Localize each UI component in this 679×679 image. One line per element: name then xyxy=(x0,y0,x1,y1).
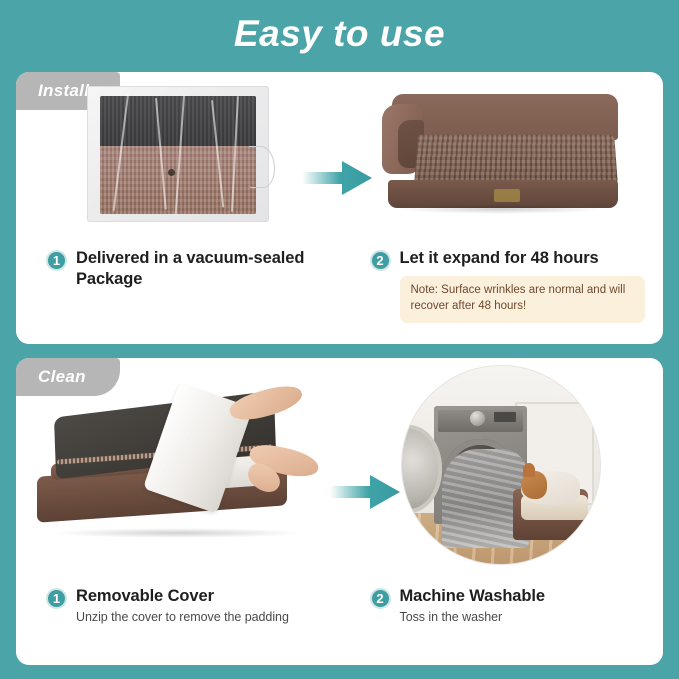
install-step-1-caption: 1 Delivered in a vacuum-sealed Package xyxy=(16,248,340,290)
clean-step-1: 1 Removable Cover Unzip the cover to rem… xyxy=(16,358,340,665)
step-badge-1: 1 xyxy=(46,250,67,271)
clean-step-1-caption: 1 Removable Cover Unzip the cover to rem… xyxy=(16,586,340,626)
step-badge-2: 2 xyxy=(370,250,391,271)
clean-step-1-title: Removable Cover xyxy=(76,586,340,607)
page-title: Easy to use xyxy=(0,0,679,55)
bed-shadow xyxy=(53,528,302,538)
install-columns: 1 Delivered in a vacuum-sealed Package xyxy=(16,72,663,344)
control-panel xyxy=(438,410,524,431)
arrow-right-icon xyxy=(302,158,374,198)
bed-shadow xyxy=(399,204,604,214)
expand-note-box: Note: Surface wrinkles are normal and wi… xyxy=(400,276,646,323)
clean-step-2-title: Machine Washable xyxy=(400,586,664,607)
display-screen xyxy=(494,412,516,422)
bed-cushion-shape xyxy=(414,135,618,184)
install-step-1: 1 Delivered in a vacuum-sealed Package xyxy=(16,72,340,344)
install-step-1-title: Delivered in a vacuum-sealed Package xyxy=(76,248,340,290)
expanded-dog-bed-photo xyxy=(382,94,620,212)
corgi-dog-ear xyxy=(523,463,535,477)
install-step-1-media xyxy=(16,72,340,248)
unzip-cover-removing-foam-photo xyxy=(33,386,323,536)
clean-step-1-media xyxy=(16,358,340,586)
vacuum-sealed-package-photo xyxy=(87,86,269,222)
install-step-2-caption: 2 Let it expand for 48 hours Note: Surfa… xyxy=(340,248,664,323)
section-install: Install xyxy=(16,72,663,344)
brand-dot-icon xyxy=(168,169,175,176)
clean-step-1-subtitle: Unzip the cover to remove the padding xyxy=(76,609,340,626)
vacuum-valve-shape xyxy=(249,146,275,188)
bed-brand-tag xyxy=(494,189,520,202)
arrow-right-icon xyxy=(330,472,402,512)
bed-backrest-shape xyxy=(392,94,618,140)
dial-icon xyxy=(470,411,485,426)
step-badge-1: 1 xyxy=(46,588,67,609)
install-step-2-media xyxy=(340,72,664,248)
clean-step-2-caption: 2 Machine Washable Toss in the washer xyxy=(340,586,664,626)
step-badge-2: 2 xyxy=(370,588,391,609)
clean-step-2-subtitle: Toss in the washer xyxy=(400,609,664,626)
install-step-2-title: Let it expand for 48 hours xyxy=(400,248,664,269)
washing-machine-with-dog-photo xyxy=(402,366,600,564)
install-step-2: 2 Let it expand for 48 hours Note: Surfa… xyxy=(340,72,664,344)
